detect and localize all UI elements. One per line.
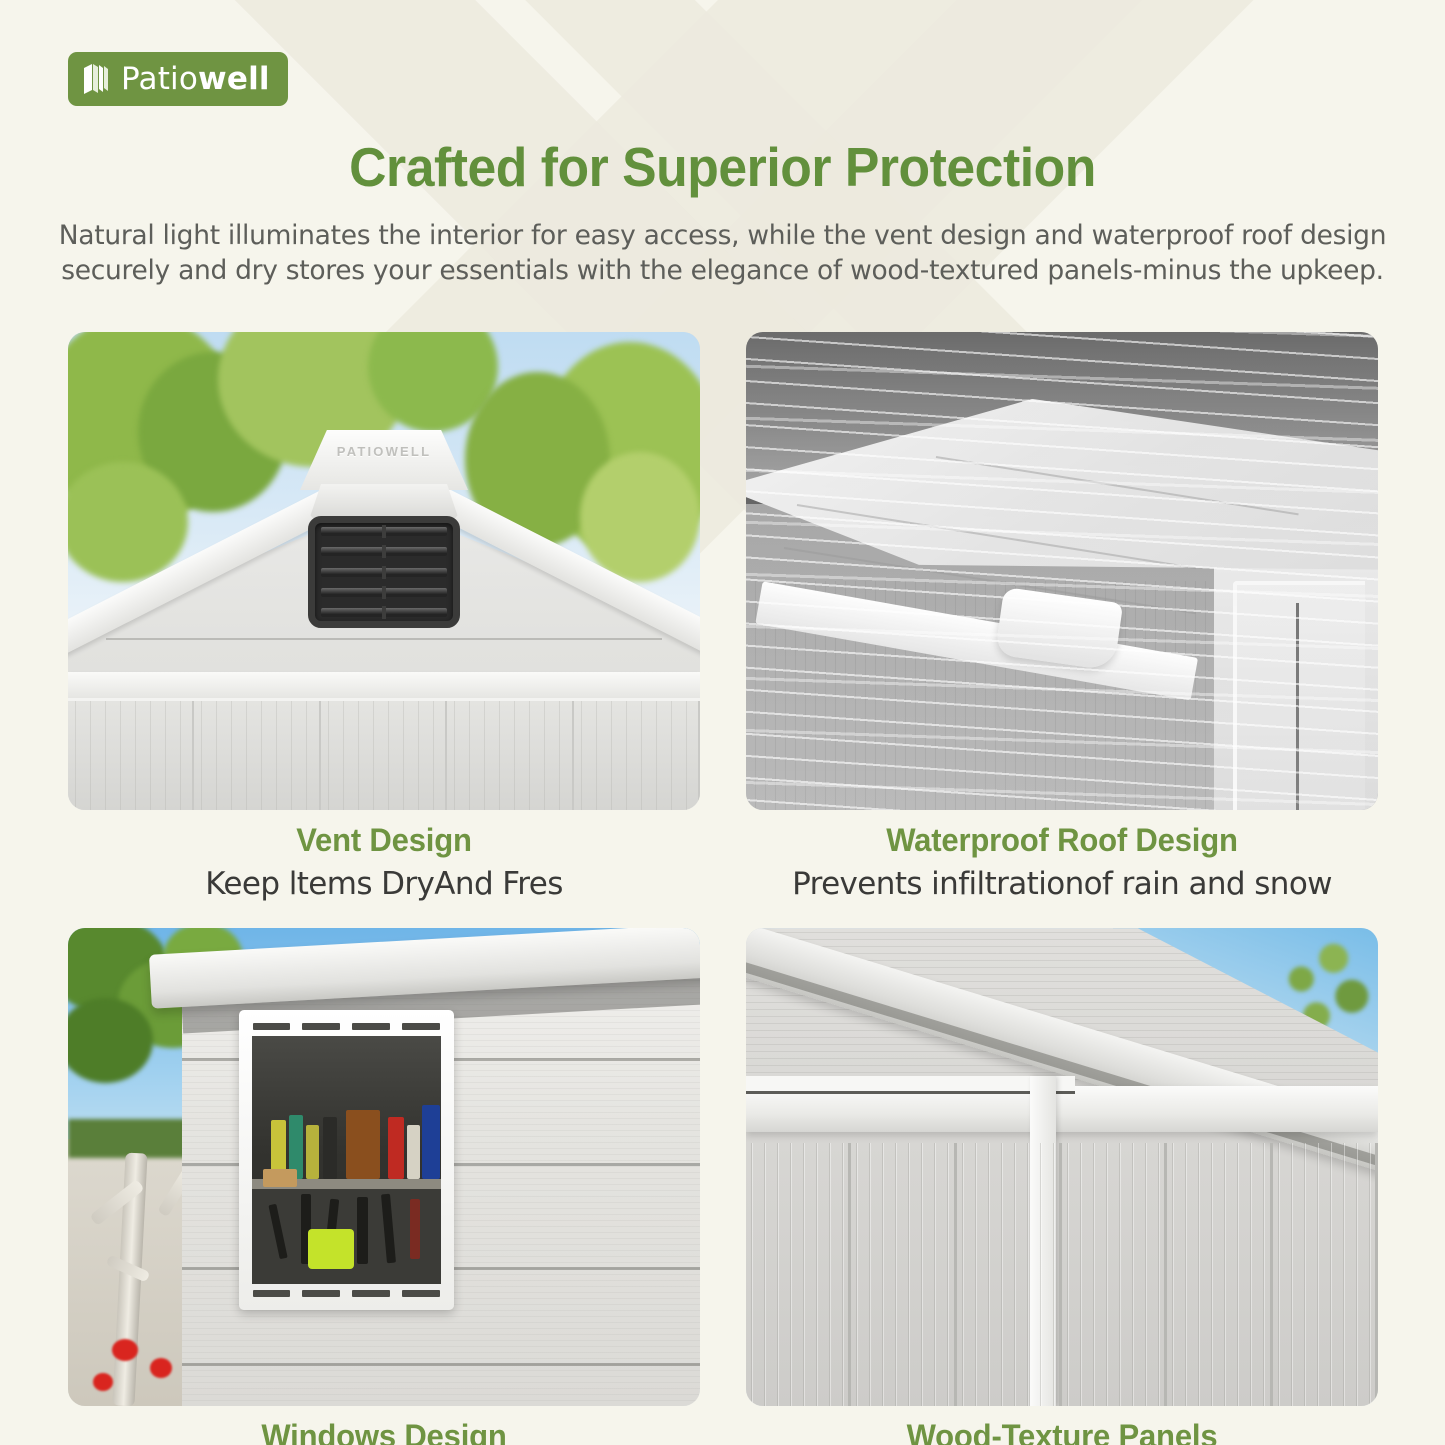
siding-panel [447,701,573,810]
vent-slot [402,1023,440,1030]
wood-texture-panel [851,1143,956,1406]
page-subtitle: Natural light illuminates the interior f… [32,218,1413,288]
bottle [407,1125,420,1180]
wood-texture-panel [746,1143,851,1406]
caption-vent-design: Vent Design Keep ltems DryAnd Fres [68,810,700,904]
tree-foliage [580,452,700,582]
brand-logo: Patiowell [68,52,288,106]
window-vent-slots-top [253,1023,440,1030]
vent-slat [321,568,447,577]
hand-tool [357,1197,368,1264]
bottle [388,1117,404,1179]
vent-slat [321,547,447,556]
caption-waterproof-roof-design: Waterproof Roof Design Prevents infiltra… [746,810,1378,904]
feature-card-wood-texture-panels: Wood-Texture Panels Classic look without… [746,928,1378,1445]
spray-can [306,1125,319,1180]
brand-name: Patiowell [121,64,270,95]
feature-title: Vent Design [77,820,690,860]
vent-slat [321,608,447,617]
feature-subtitle: Keep ltems DryAnd Fres [68,864,700,904]
ridge-cap [300,430,468,490]
blue-bottle [422,1105,440,1179]
photo-waterproof-roof-design [746,332,1378,810]
wood-block [263,1169,297,1186]
caption-windows-design: Windows Design Natural Light forEasy Acc… [68,1406,700,1445]
embossed-brand-text: PATIOWELL [337,444,431,459]
window-frame [239,1010,454,1310]
wall-seam [106,638,662,640]
feature-grid: PATIOWELL [68,332,1378,1445]
siding-panel [574,701,700,810]
feature-card-waterproof-roof-design: Waterproof Roof Design Prevents infiltra… [746,332,1378,904]
photo-vent-design: PATIOWELL [68,332,700,810]
cardboard-box [346,1110,380,1179]
window-vent-slots-bottom [253,1290,440,1297]
siding-seam [182,1363,700,1366]
stacked-panels-icon [82,62,112,96]
siding-panel [321,701,447,810]
louvered-vent-icon [308,516,460,628]
wood-texture-panel [1167,1143,1272,1406]
vent-slot [402,1290,440,1297]
red-flower [93,1373,113,1391]
brand-name-light: Patio [121,61,198,97]
feature-subtitle: Prevents infiltrationof rain and snow [746,864,1378,904]
vent-slot [253,1023,291,1030]
photo-wood-texture-panels [746,928,1378,1406]
vent-slot [352,1290,390,1297]
siding-panel [194,701,320,810]
rain-haze-overlay [746,332,1378,810]
vent-slot [352,1023,390,1030]
door-header-trim [746,1076,1075,1094]
window-glass [252,1036,441,1284]
feature-card-windows-design: Windows Design Natural Light forEasy Acc… [68,928,700,1445]
wood-texture-panel [1062,1143,1167,1406]
page-title: Crafted for Superior Protection [43,135,1401,199]
spray-can [323,1117,337,1179]
wood-texture-panel [1273,1143,1378,1406]
vent-slot [302,1290,340,1297]
vent-slat [321,527,447,536]
feature-title: Wood-Texture Panels [755,1416,1368,1445]
caption-wood-texture-panels: Wood-Texture Panels Classic look without… [746,1406,1378,1445]
wood-texture-panel [957,1143,1062,1406]
brand-name-bold: well [198,61,270,97]
green-power-tool [308,1229,354,1269]
infographic-page: Patiowell Crafted for Superior Protectio… [0,0,1445,1445]
vent-slat [321,588,447,597]
vent-slot [302,1023,340,1030]
photo-windows-design [68,928,700,1406]
feature-title: Waterproof Roof Design [755,820,1368,860]
feature-title: Windows Design [77,1416,690,1445]
hand-tool [410,1199,420,1259]
wood-texture-panel-row [746,1143,1378,1406]
siding-panel [68,701,194,810]
eave-trim [68,672,700,698]
vent-slot [253,1290,291,1297]
siding-panel-row [68,698,700,810]
vent-hood [309,484,459,520]
feature-card-vent-design: PATIOWELL [68,332,700,904]
